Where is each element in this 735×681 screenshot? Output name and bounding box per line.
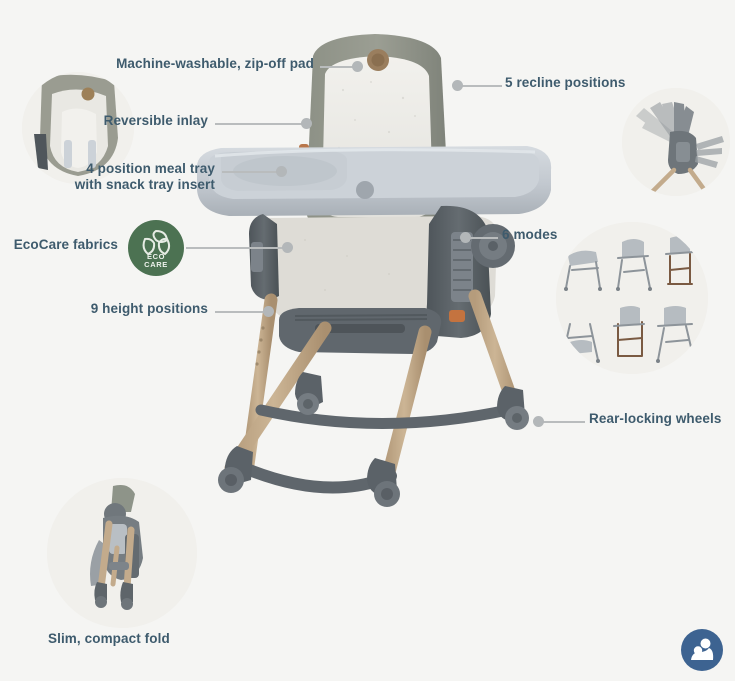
infographic-canvas: Machine-washable, zip-off pad Reversible…: [0, 0, 735, 681]
leader-dot-rear-locking-wheels: [533, 416, 544, 427]
main-product-image: [175, 28, 575, 528]
inset-compact-fold: [47, 478, 197, 628]
leader-six-modes: [470, 237, 498, 239]
label-meal-tray: 4 position meal tray with snack tray ins…: [0, 161, 215, 194]
label-six-modes: 6 modes: [502, 227, 622, 243]
label-ecocare-fabrics: EcoCare fabrics: [0, 237, 118, 253]
leader-dot-recline-positions: [452, 80, 463, 91]
label-recline-positions: 5 recline positions: [505, 75, 705, 91]
leader-reversible-inlay: [215, 123, 305, 125]
leader-dot-zip-off-pad: [352, 61, 363, 72]
leader-zip-off-pad: [320, 66, 356, 68]
brand-logo-badge: [681, 629, 723, 671]
leader-dot-six-modes: [460, 232, 471, 243]
leader-rear-locking-wheels: [543, 421, 585, 423]
leader-dot-reversible-inlay: [301, 118, 312, 129]
label-rear-locking-wheels: Rear-locking wheels: [589, 411, 735, 427]
label-compact-fold: Slim, compact fold: [48, 631, 268, 647]
leader-height-positions: [215, 311, 267, 313]
label-reversible-inlay: Reversible inlay: [30, 113, 208, 129]
leader-meal-tray: [222, 171, 280, 173]
leader-dot-ecocare: [282, 242, 293, 253]
label-height-positions: 9 height positions: [20, 301, 208, 317]
leader-dot-meal-tray: [276, 166, 287, 177]
six-modes-grid-icon: [556, 222, 708, 374]
ecocare-badge-text: ECO CARE: [128, 253, 184, 269]
mother-and-child-icon: [688, 636, 716, 664]
folded-chair-icon: [47, 478, 197, 628]
inset-six-modes-grid: [556, 222, 708, 374]
recline-fan-icon: [622, 88, 730, 196]
leader-dot-height-positions: [263, 306, 274, 317]
inset-recline-fan: [622, 88, 730, 196]
leader-ecocare: [186, 247, 286, 249]
leader-recline-positions: [462, 85, 502, 87]
label-zip-off-pad: Machine-washable, zip-off pad: [90, 56, 314, 72]
ecocare-badge: ECO CARE: [128, 220, 184, 276]
